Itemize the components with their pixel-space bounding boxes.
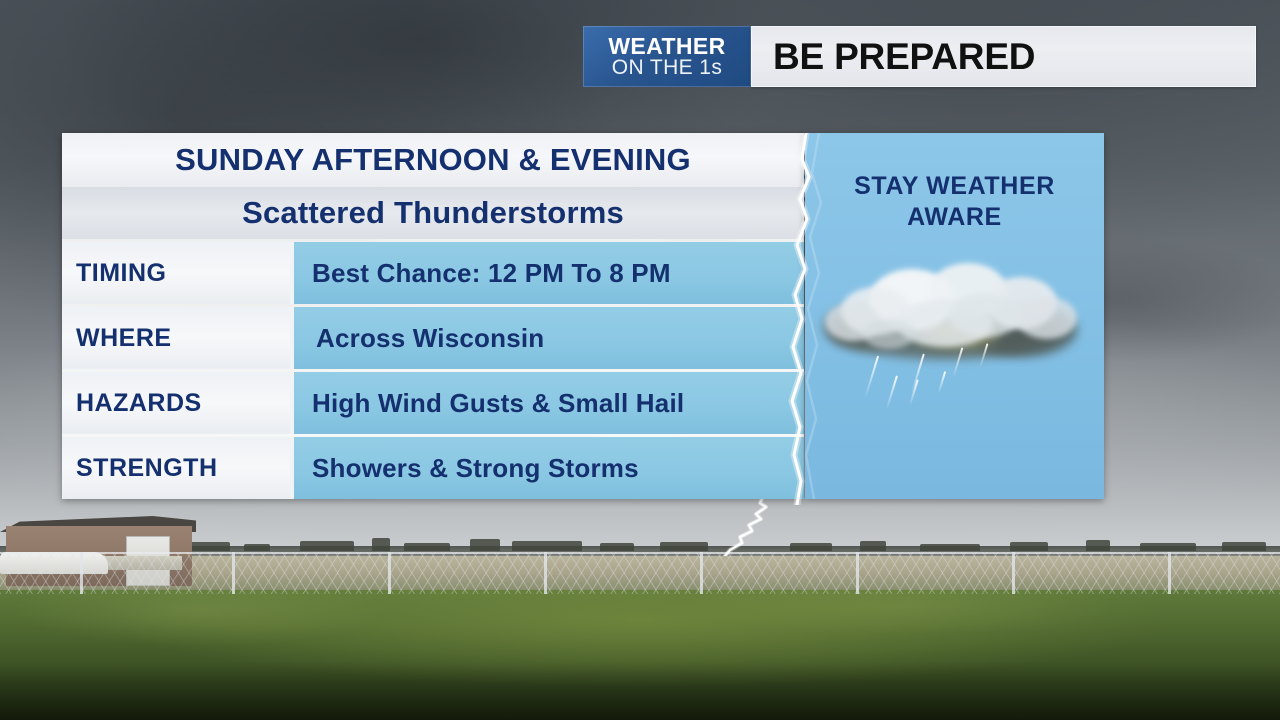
headline-line-2: AWARE xyxy=(805,202,1104,233)
table-row: TIMING Best Chance: 12 PM To 8 PM xyxy=(62,239,804,304)
row-label-cell: HAZARDS xyxy=(62,372,290,434)
row-value-timing: Best Chance: 12 PM To 8 PM xyxy=(312,258,671,289)
forecast-subtitle: Scattered Thunderstorms xyxy=(242,195,624,231)
row-value-cell: High Wind Gusts & Small Hail xyxy=(290,372,804,434)
table-row: WHERE Across Wisconsin xyxy=(62,304,804,369)
rain-cloud-icon xyxy=(817,263,1087,433)
broadcast-header: WEATHER ON THE 1s BE PREPARED xyxy=(583,26,1256,87)
forecast-title-row: SUNDAY AFTERNOON & EVENING xyxy=(62,133,804,187)
forecast-subtitle-row: Scattered Thunderstorms xyxy=(62,187,804,239)
row-value-cell: Best Chance: 12 PM To 8 PM xyxy=(290,242,804,304)
row-value-cell: Across Wisconsin xyxy=(290,307,804,369)
fence-top-rail xyxy=(0,552,1280,554)
forecast-title: SUNDAY AFTERNOON & EVENING xyxy=(175,142,691,178)
row-label-cell: WHERE xyxy=(62,307,290,369)
row-value-cell: Showers & Strong Storms xyxy=(290,437,804,499)
row-label-strength: STRENGTH xyxy=(76,454,218,483)
stay-weather-aware-panel: STAY WEATHER AWARE xyxy=(805,133,1104,499)
table-row: STRENGTH Showers & Strong Storms xyxy=(62,434,804,499)
row-label-timing: TIMING xyxy=(76,259,167,288)
row-value-hazards: High Wind Gusts & Small Hail xyxy=(312,388,684,419)
row-value-where: Across Wisconsin xyxy=(316,323,544,354)
row-value-strength: Showers & Strong Storms xyxy=(312,453,639,484)
forecast-table: SUNDAY AFTERNOON & EVENING Scattered Thu… xyxy=(62,133,804,499)
logo-line-1: WEATHER xyxy=(608,35,725,57)
header-banner: BE PREPARED xyxy=(751,26,1256,87)
weather-on-the-1s-logo: WEATHER ON THE 1s xyxy=(583,26,751,87)
row-label-where: WHERE xyxy=(76,324,172,353)
logo-line-2: ON THE 1s xyxy=(612,57,723,79)
row-label-cell: STRENGTH xyxy=(62,437,290,499)
page-title: BE PREPARED xyxy=(773,36,1035,78)
row-label-hazards: HAZARDS xyxy=(76,389,202,418)
row-label-cell: TIMING xyxy=(62,242,290,304)
side-panel-headline: STAY WEATHER AWARE xyxy=(805,171,1104,233)
table-row: HAZARDS High Wind Gusts & Small Hail xyxy=(62,369,804,434)
chain-link-fence xyxy=(0,552,1280,594)
headline-line-1: STAY WEATHER xyxy=(805,171,1104,202)
grass-field xyxy=(0,590,1280,720)
